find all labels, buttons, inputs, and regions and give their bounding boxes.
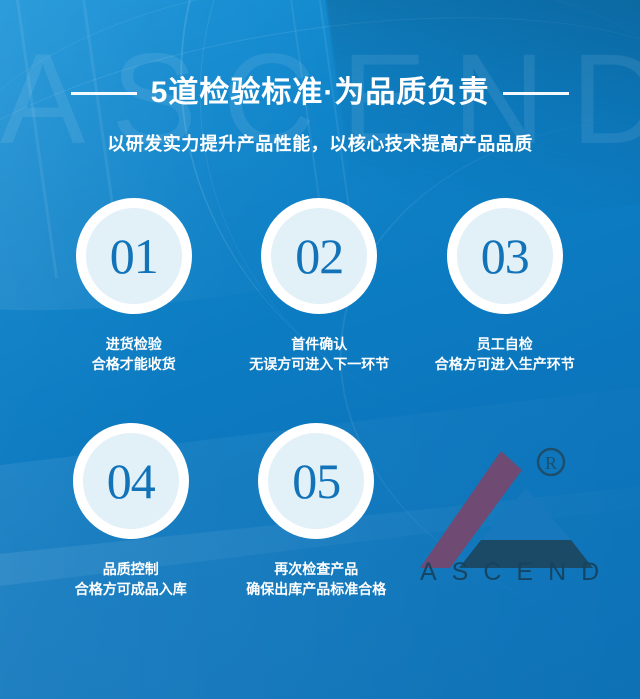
step-label-05: 再次检查产品 确保出库产品标准合格 bbox=[246, 559, 386, 600]
step-label-02-line1: 首件确认 bbox=[291, 336, 347, 352]
step-item-05: 05 再次检查产品 确保出库产品标准合格 bbox=[224, 423, 410, 600]
step-label-05-line2: 确保出库产品标准合格 bbox=[246, 579, 386, 599]
title-rule-right bbox=[503, 92, 569, 95]
step-label-04-line1: 品质控制 bbox=[103, 561, 159, 577]
step-label-02: 首件确认 无误方可进入下一环节 bbox=[249, 334, 389, 375]
step-badge-04: 04 bbox=[73, 423, 189, 539]
step-label-01: 进货检验 合格才能收货 bbox=[92, 334, 176, 375]
steps-row-top: 01 进货检验 合格才能收货 02 首件确认 无误方可进入下一环节 bbox=[0, 198, 640, 375]
step-label-04-line2: 合格方可成品入库 bbox=[75, 579, 187, 599]
step-number-05: 05 bbox=[292, 456, 340, 506]
step-badge-inner-05: 05 bbox=[268, 433, 364, 529]
step-badge-01: 01 bbox=[76, 198, 192, 314]
step-badge-inner-04: 04 bbox=[83, 433, 179, 529]
header: 5道检验标准·为品质负责 以研发实力提升产品性能，以核心技术提高产品品质 bbox=[0, 0, 640, 156]
step-label-03-line2: 合格方可进入生产环节 bbox=[435, 354, 575, 374]
step-label-03-line1: 员工自检 bbox=[477, 336, 533, 352]
step-label-05-line1: 再次检查产品 bbox=[274, 561, 358, 577]
step-label-03: 员工自检 合格方可进入生产环节 bbox=[435, 334, 575, 375]
step-number-04: 04 bbox=[107, 456, 155, 506]
step-number-02: 02 bbox=[295, 231, 343, 281]
step-badge-05: 05 bbox=[258, 423, 374, 539]
page-title: 5道检验标准·为品质负责 bbox=[151, 78, 490, 108]
ascend-logo: R ASCEND bbox=[418, 438, 630, 598]
page-subtitle: 以研发实力提升产品性能，以核心技术提高产品品质 bbox=[0, 130, 640, 156]
logo-wordmark: ASCEND bbox=[420, 558, 628, 587]
step-label-04: 品质控制 合格方可成品入库 bbox=[75, 559, 187, 600]
step-badge-inner-03: 03 bbox=[457, 208, 553, 304]
step-item-02: 02 首件确认 无误方可进入下一环节 bbox=[227, 198, 413, 375]
step-label-01-line2: 合格才能收货 bbox=[92, 354, 176, 374]
step-number-03: 03 bbox=[481, 231, 529, 281]
step-badge-02: 02 bbox=[261, 198, 377, 314]
step-label-01-line1: 进货检验 bbox=[106, 336, 162, 352]
step-item-03: 03 员工自检 合格方可进入生产环节 bbox=[412, 198, 598, 375]
step-label-02-line2: 无误方可进入下一环节 bbox=[249, 354, 389, 374]
step-number-01: 01 bbox=[110, 231, 158, 281]
step-badge-inner-01: 01 bbox=[86, 208, 182, 304]
title-row: 5道检验标准·为品质负责 bbox=[0, 70, 640, 116]
step-badge-03: 03 bbox=[447, 198, 563, 314]
step-item-01: 01 进货检验 合格才能收货 bbox=[41, 198, 227, 375]
step-badge-inner-02: 02 bbox=[271, 208, 367, 304]
registered-mark-glyph: R bbox=[545, 453, 557, 473]
title-rule-left bbox=[71, 92, 137, 95]
step-item-04: 04 品质控制 合格方可成品入库 bbox=[38, 423, 224, 600]
promo-poster: ASCEND 5道检验标准·为品质负责 以研发实力提升产品性能，以核心技术提高产… bbox=[0, 0, 640, 699]
